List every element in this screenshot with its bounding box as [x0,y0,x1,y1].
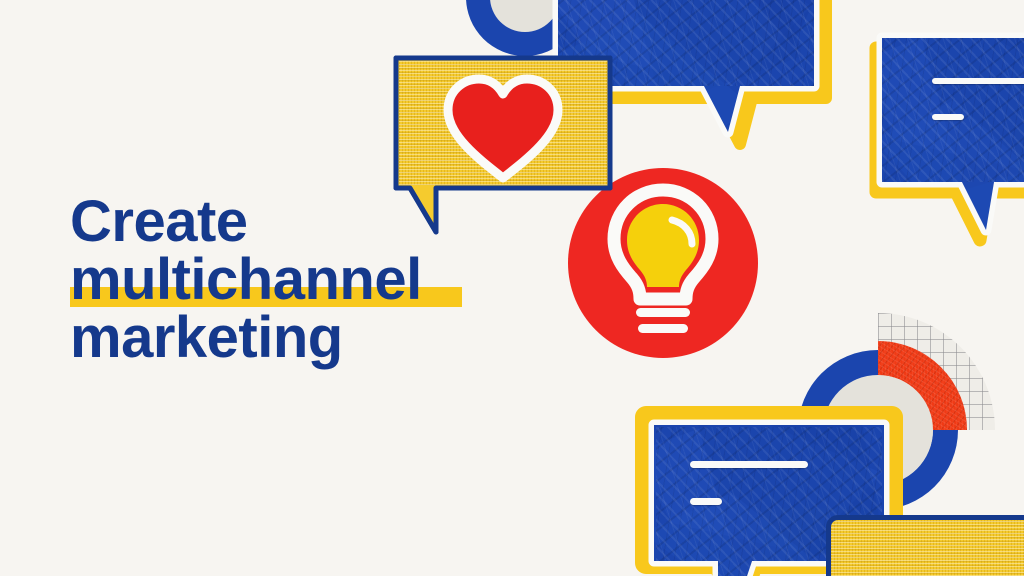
speech-bubble-yellow-bottom-right[interactable] [826,515,1024,576]
headline-line-2: multichannel [70,251,490,309]
bubble-text-line-long [690,461,808,468]
headline-line-1: Create [70,193,490,251]
headline-line-2-wrapper: multichannel [70,251,490,309]
hero-banner: Create multichannel marketing [0,0,1024,576]
headline-block: Create multichannel marketing [70,193,490,367]
bubble-paper-texture [882,38,1024,182]
bubble-text-line-short [932,114,964,120]
speech-bubble-blue-right[interactable] [874,30,1024,260]
bubble-text-line-short [690,498,722,505]
bubble-text-line-long [932,78,1024,84]
headline-line-3: marketing [70,309,490,367]
bubble-fabric-texture [831,520,1024,576]
heart-icon [438,70,568,190]
